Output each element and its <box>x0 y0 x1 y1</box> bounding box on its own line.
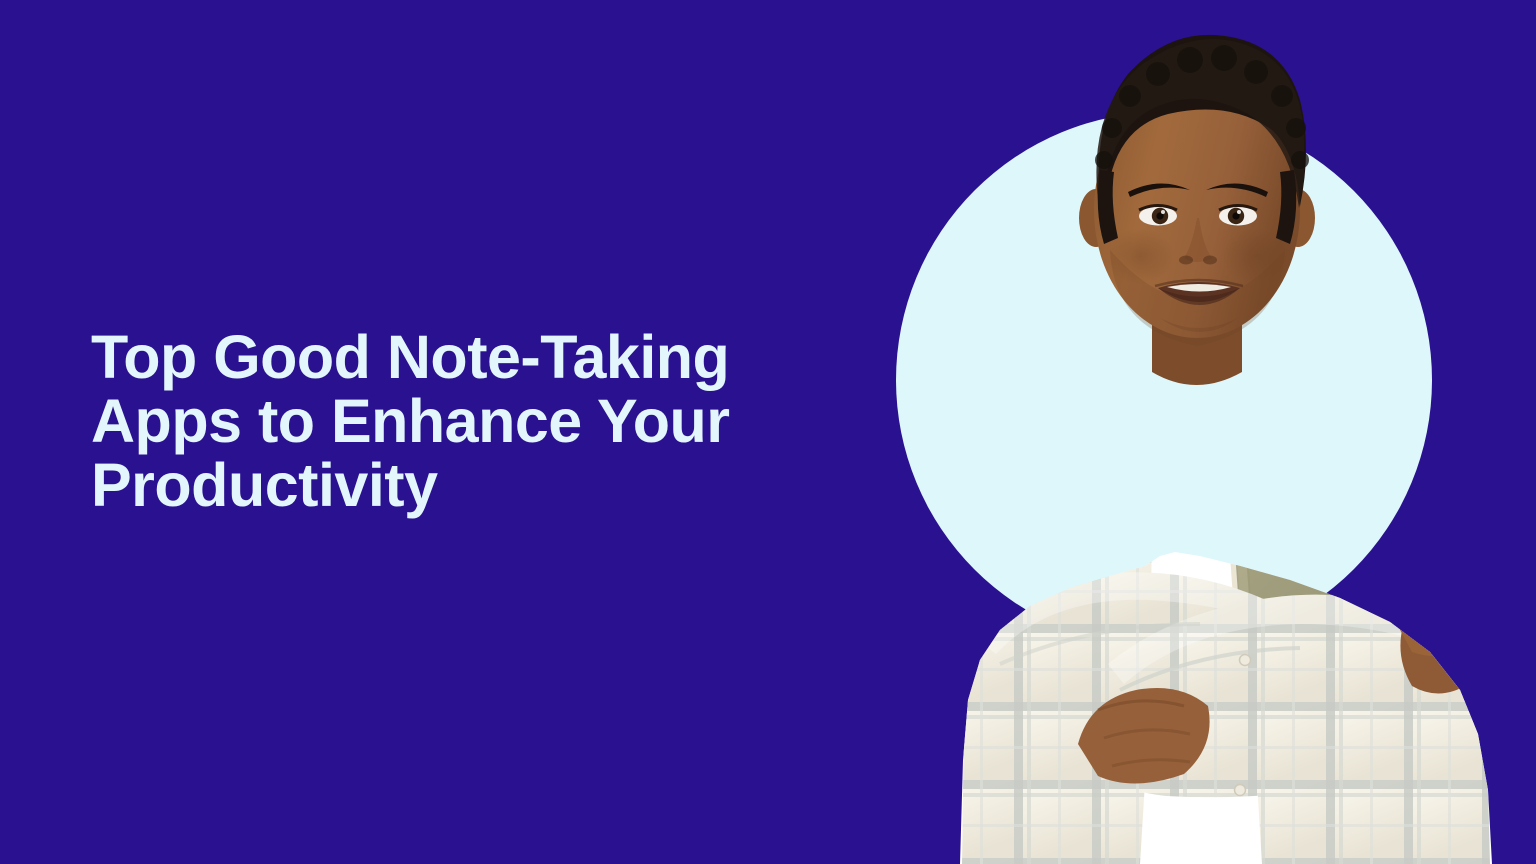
page-title: Top Good Note-Taking Apps to Enhance You… <box>91 325 881 517</box>
background-circle <box>896 112 1432 648</box>
article-hero-banner: Top Good Note-Taking Apps to Enhance You… <box>0 0 1536 864</box>
